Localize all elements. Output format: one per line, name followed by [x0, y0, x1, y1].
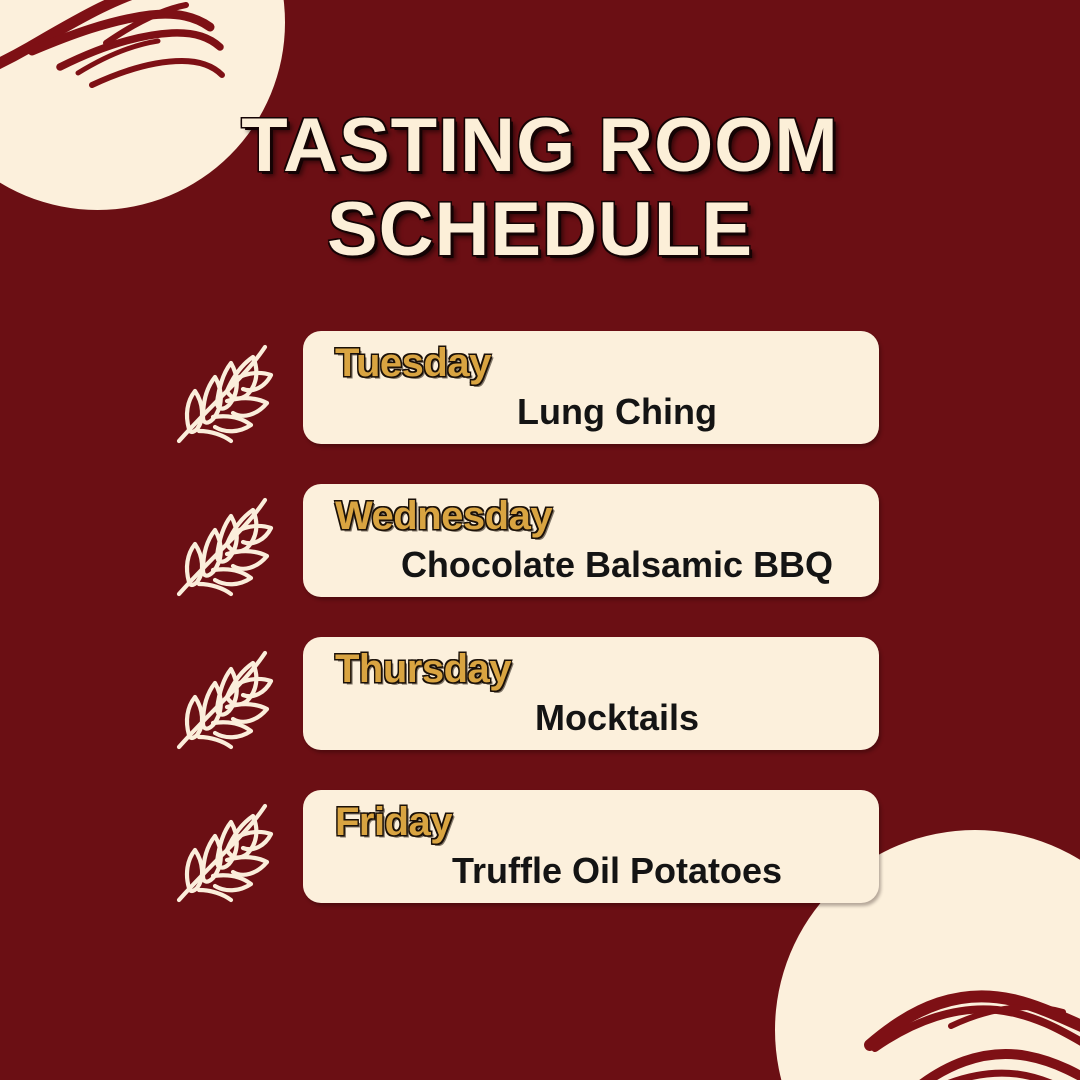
day-label: Friday — [335, 796, 452, 848]
day-label: Tuesday — [335, 337, 491, 389]
item-label: Lung Ching — [303, 387, 879, 437]
schedule-card[interactable]: Friday Truffle Oil Potatoes — [303, 790, 879, 903]
item-label: Chocolate Balsamic BBQ — [303, 540, 879, 590]
day-label: Wednesday — [335, 490, 552, 542]
day-label: Thursday — [335, 643, 511, 695]
schedule-card[interactable]: Tuesday Lung Ching — [303, 331, 879, 444]
wheat-swirl-icon — [0, 0, 285, 210]
fern-leaf-icon — [165, 331, 285, 449]
schedule-card[interactable]: Thursday Mocktails — [303, 637, 879, 750]
item-label: Mocktails — [303, 693, 879, 743]
schedule-list: Tuesday Lung Ching — [0, 331, 1080, 943]
schedule-row: Wednesday Chocolate Balsamic BBQ — [0, 484, 1080, 597]
schedule-row: Tuesday Lung Ching — [0, 331, 1080, 444]
poster-canvas: TASTING ROOM SCHEDULE — [0, 0, 1080, 1080]
top-left-decoration-circle — [0, 0, 285, 210]
fern-leaf-icon — [165, 484, 285, 602]
schedule-card[interactable]: Wednesday Chocolate Balsamic BBQ — [303, 484, 879, 597]
item-label: Truffle Oil Potatoes — [303, 846, 879, 896]
fern-leaf-icon — [165, 790, 285, 908]
fern-leaf-icon — [165, 637, 285, 755]
schedule-row: Friday Truffle Oil Potatoes — [0, 790, 1080, 903]
schedule-row: Thursday Mocktails — [0, 637, 1080, 750]
